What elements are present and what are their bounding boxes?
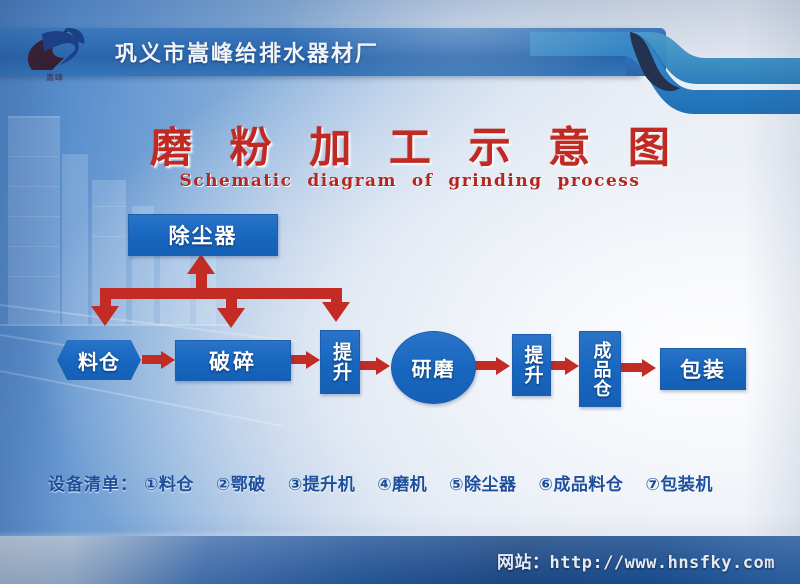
- diagram-title-en: Schematic diagram of grinding process: [150, 168, 670, 194]
- equipment-list-item: ⑦包装机: [645, 470, 712, 495]
- edge-manifold-to-lift1-arrow: [322, 302, 350, 322]
- edge-crusher-to-lift1-arrow: [306, 351, 320, 369]
- title-char: 加: [309, 114, 351, 175]
- edge-lift1-to-grinder-shaft: [359, 361, 377, 370]
- equipment-list: 设备清单： ①料仓 ②鄂破 ③提升机 ④磨机 ⑤除尘器 ⑥成品料仓 ⑦包装机: [48, 466, 752, 498]
- manifold-horizontal-bar: [100, 288, 342, 299]
- node-grinder[interactable]: 研磨: [391, 331, 476, 404]
- equipment-list-item: ②鄂破: [216, 470, 266, 495]
- edge-manifold-to-dust-arrow: [187, 254, 215, 274]
- edge-silo-to-crusher-shaft: [142, 355, 162, 364]
- edge-grinder-to-lift2-shaft: [474, 361, 497, 370]
- edge-manifold-to-silo-stem: [100, 288, 111, 308]
- node-elevator-1[interactable]: 提升: [320, 330, 360, 394]
- equipment-list-item: ④磨机: [377, 470, 427, 495]
- title-char: 磨: [150, 114, 192, 175]
- ribbon-graphic: [530, 10, 800, 120]
- node-crusher[interactable]: 破碎: [175, 340, 291, 381]
- equipment-list-item: ⑥成品料仓: [539, 470, 624, 495]
- diagram-title-cn: 磨 粉 加 工 示 意 图: [150, 116, 670, 172]
- website-url[interactable]: 网站：http://www.hnsfky.com: [497, 546, 775, 574]
- title-char: 粉: [230, 114, 272, 175]
- equipment-list-item: ③提升机: [288, 470, 355, 495]
- edge-lift2-to-product-shaft: [550, 361, 566, 370]
- poster-screenshot: 巩义市嵩峰给排水器材厂 嵩峰 磨 粉: [0, 0, 800, 584]
- edge-product-to-pack-arrow: [642, 359, 656, 377]
- edge-manifold-to-crusher-stem: [226, 288, 237, 310]
- edge-crusher-to-lift1-shaft: [290, 355, 307, 364]
- title-char: 意: [548, 114, 590, 175]
- title-char: 示: [469, 114, 511, 175]
- edge-grinder-to-lift2-arrow: [496, 357, 510, 375]
- edge-silo-to-crusher-arrow: [161, 351, 175, 369]
- equipment-list-label: 设备清单：: [48, 470, 138, 495]
- node-silo[interactable]: 料仓: [57, 340, 141, 380]
- edge-lift1-to-grinder-arrow: [376, 357, 390, 375]
- logo-subtext: 嵩峰: [12, 72, 98, 83]
- title-char: 工: [389, 114, 431, 175]
- node-product-silo[interactable]: 成品仓: [579, 331, 621, 407]
- sf-monogram-logo: 嵩峰: [12, 24, 98, 90]
- title-char: 图: [628, 114, 670, 175]
- node-dust-collector[interactable]: 除尘器: [128, 214, 278, 256]
- edge-product-to-pack-shaft: [621, 363, 643, 372]
- edge-lift2-to-product-arrow: [565, 357, 579, 375]
- page-title: 巩义市嵩峰给排水器材厂: [115, 30, 535, 74]
- node-packaging[interactable]: 包装: [660, 348, 746, 390]
- edge-manifold-to-dust-stem: [196, 272, 207, 296]
- footer-bar: 网站：http://www.hnsfky.com: [0, 536, 800, 584]
- equipment-list-item: ⑤除尘器: [449, 470, 516, 495]
- node-elevator-2[interactable]: 提升: [512, 334, 551, 396]
- equipment-list-item: ①料仓: [144, 470, 194, 495]
- edge-manifold-to-crusher-arrow: [217, 308, 245, 328]
- edge-manifold-to-silo-arrow: [91, 306, 119, 326]
